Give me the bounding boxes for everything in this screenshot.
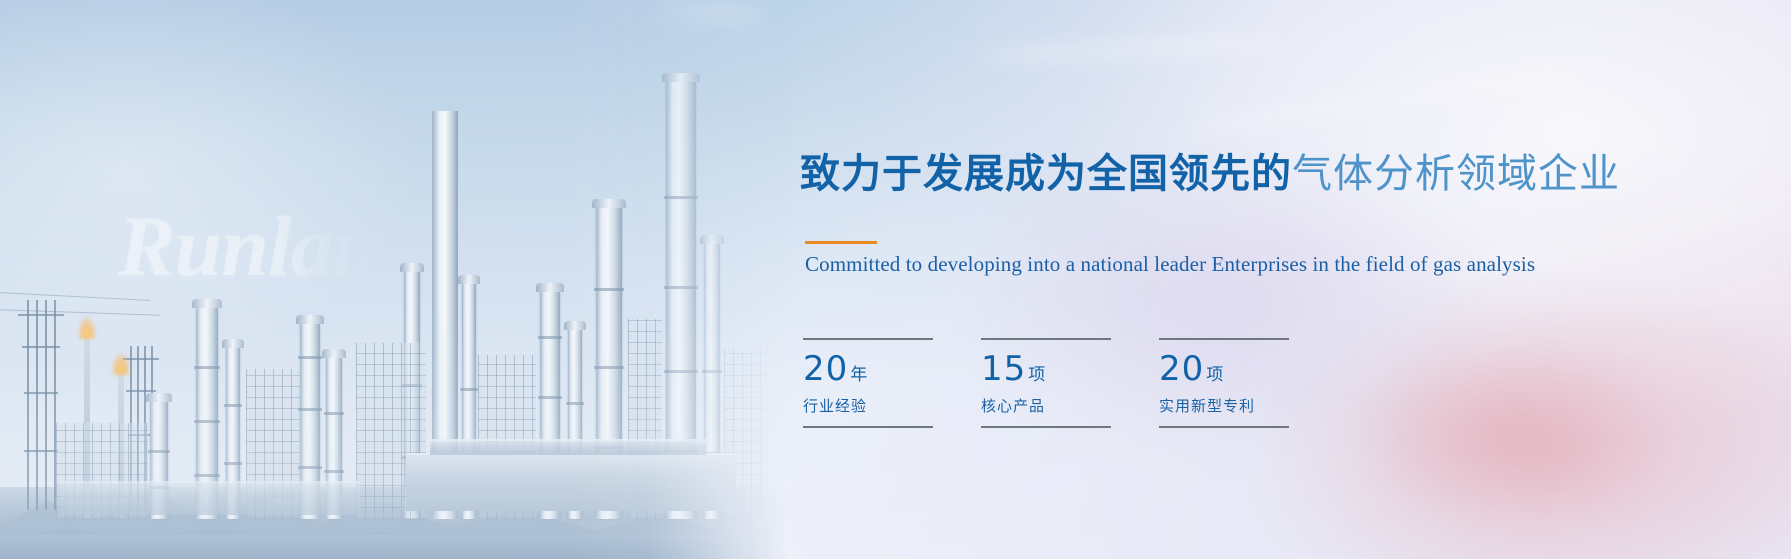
stat-number: 20	[803, 349, 848, 389]
stat-label: 核心产品	[981, 395, 1111, 416]
stat-label: 实用新型专利	[1159, 395, 1289, 416]
page-title: 致力于发展成为全国领先的气体分析领域企业	[800, 152, 1620, 196]
stat-label: 行业经验	[803, 395, 933, 416]
stat-card: 20项 实用新型专利	[1159, 338, 1289, 428]
stat-unit: 年	[850, 365, 867, 385]
stats-row: 20年 行业经验 15项 核心产品 20项 实用新型专利	[803, 338, 1289, 428]
accent-divider	[805, 241, 877, 244]
stat-value: 15项	[981, 352, 1111, 386]
pipe-bridge	[430, 439, 706, 455]
stat-card: 15项 核心产品	[981, 338, 1111, 428]
banner-content: 致力于发展成为全国领先的气体分析领域企业 Committed to develo…	[800, 0, 1791, 559]
refinery-photo: Runlan	[0, 0, 790, 559]
page-subtitle: Committed to developing into a national …	[805, 252, 1535, 277]
refinery-structures	[0, 49, 790, 519]
stat-value: 20年	[803, 352, 933, 386]
headline-strong: 致力于发展成为全国领先的	[800, 151, 1292, 197]
pipe-rack	[406, 453, 736, 511]
stat-card: 20年 行业经验	[803, 338, 933, 428]
stat-unit: 项	[1206, 365, 1223, 385]
headline-light: 气体分析领域企业	[1292, 151, 1620, 197]
foreground-water	[0, 535, 790, 559]
stat-value: 20项	[1159, 352, 1289, 386]
stat-number: 20	[1159, 349, 1204, 389]
hero-banner: Runlan 致力于发展成为全国领先的气体分析领域企业 Committed to…	[0, 0, 1791, 559]
stat-unit: 项	[1028, 365, 1045, 385]
stat-number: 15	[981, 349, 1026, 389]
pipe-rack	[60, 481, 360, 515]
